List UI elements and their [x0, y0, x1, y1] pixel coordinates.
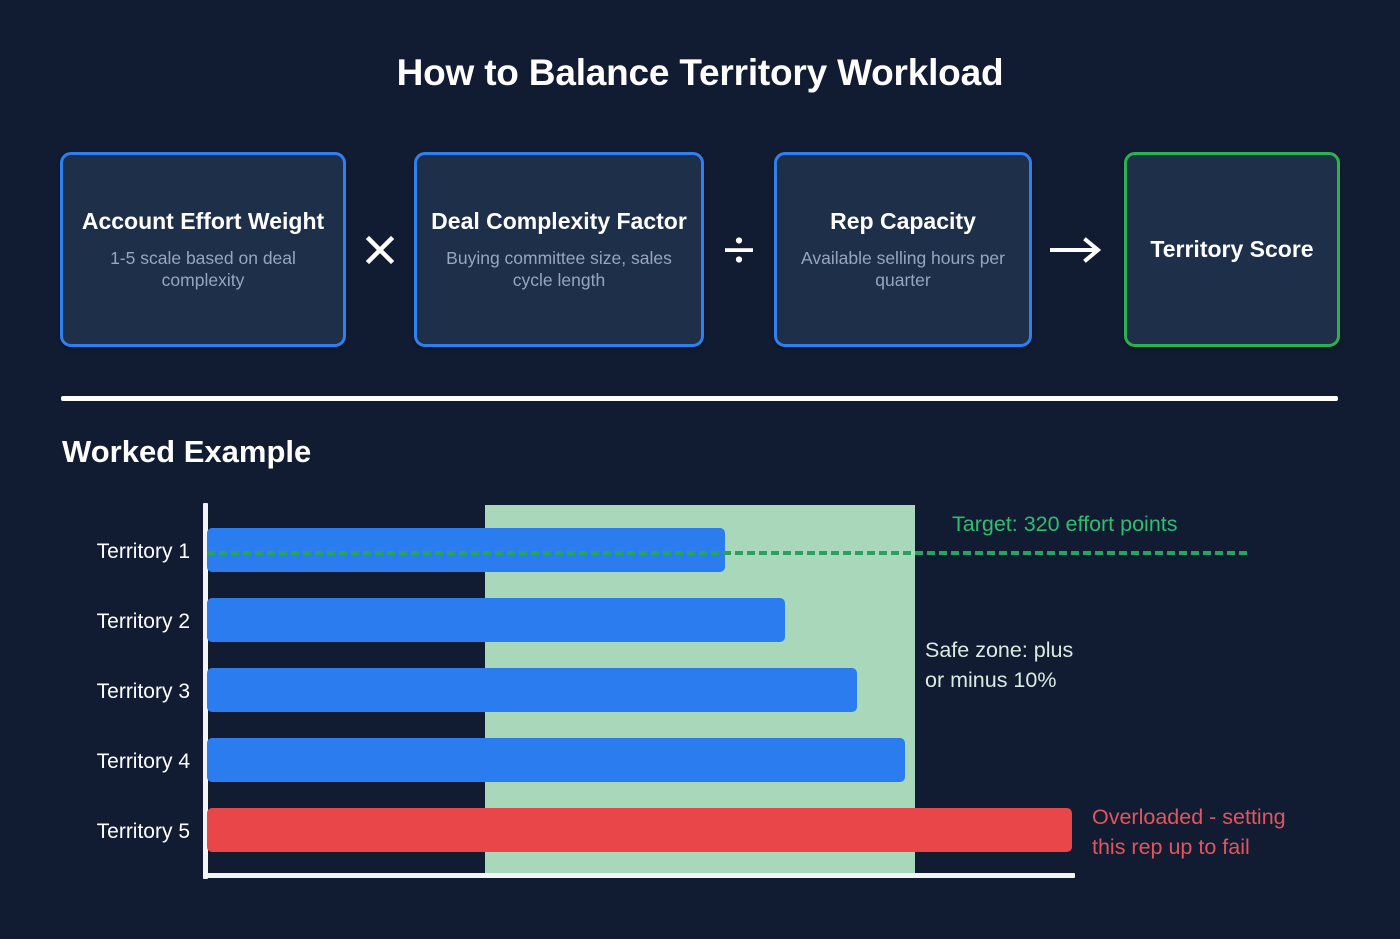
formula-box-title: Deal Complexity Factor: [431, 207, 687, 235]
chart-x-axis: [203, 873, 1075, 878]
category-label-territory-3: Territory 3: [0, 680, 190, 704]
formula-box-title: Territory Score: [1150, 235, 1313, 263]
bar-territory-5: [207, 808, 1072, 852]
section-divider: [61, 396, 1338, 401]
target-line-label: Target: 320 effort points: [952, 512, 1178, 537]
formula-box-territory-score: Territory Score: [1124, 152, 1340, 347]
target-reference-line: [207, 551, 1247, 555]
formula-row: Account Effort Weight 1-5 scale based on…: [60, 152, 1340, 347]
formula-box-rep-capacity: Rep Capacity Available selling hours per…: [774, 152, 1032, 347]
overload-annotation-line-2: this rep up to fail: [1092, 832, 1250, 863]
safe-zone-label-line-2: or minus 10%: [925, 665, 1056, 696]
bar-territory-2: [207, 598, 785, 642]
bar-territory-1: [207, 528, 725, 572]
formula-box-subtitle: Buying committee size, sales cycle lengt…: [431, 248, 687, 292]
bar-territory-4: [207, 738, 905, 782]
formula-box-subtitle: 1-5 scale based on deal complexity: [77, 248, 329, 292]
formula-box-title: Account Effort Weight: [82, 207, 324, 235]
infographic-root: How to Balance Territory Workload Accoun…: [0, 0, 1400, 939]
formula-box-deal-complexity-factor: Deal Complexity Factor Buying committee …: [414, 152, 704, 347]
section-heading: Worked Example: [62, 434, 311, 470]
category-label-territory-1: Territory 1: [0, 540, 190, 564]
category-label-territory-4: Territory 4: [0, 750, 190, 774]
bar-territory-3: [207, 668, 857, 712]
formula-box-account-effort-weight: Account Effort Weight 1-5 scale based on…: [60, 152, 346, 347]
right-arrow-icon: [1032, 152, 1124, 347]
multiply-operator-icon: [346, 152, 414, 347]
category-label-territory-5: Territory 5: [0, 820, 190, 844]
formula-box-title: Rep Capacity: [830, 207, 976, 235]
safe-zone-label-line-1: Safe zone: plus: [925, 635, 1073, 666]
category-label-territory-2: Territory 2: [0, 610, 190, 634]
divide-operator-icon: [704, 152, 774, 347]
formula-box-subtitle: Available selling hours per quarter: [791, 248, 1015, 292]
worked-example-chart: Territory 1 Territory 2 Territory 3 Terr…: [0, 495, 1400, 915]
page-title: How to Balance Territory Workload: [0, 52, 1400, 94]
overload-annotation-line-1: Overloaded - setting: [1092, 802, 1286, 833]
